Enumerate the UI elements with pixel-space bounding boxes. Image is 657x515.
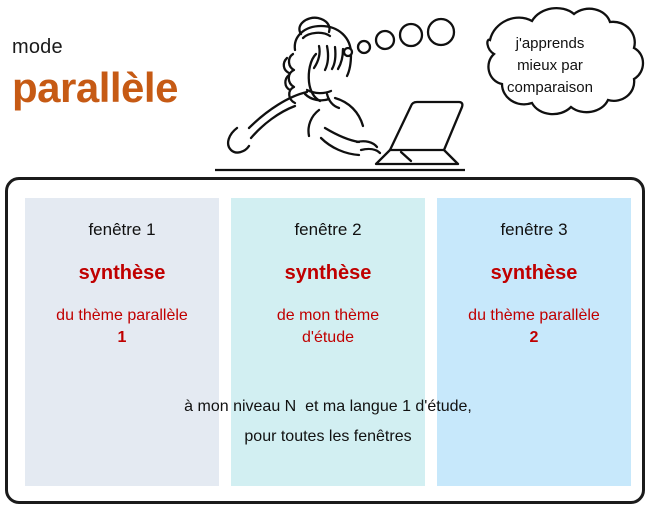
window-column-3-header: fenêtre 3	[437, 220, 631, 240]
thought-bubble-text: j'apprends mieux par comparaison	[470, 33, 630, 98]
window-column-3-kind: synthèse	[437, 262, 631, 285]
thought-bubble-line-2: mieux par	[470, 55, 630, 77]
window-column-2-desc-number: d'étude	[235, 327, 421, 349]
page-title: parallèle	[12, 65, 178, 111]
parallel-mode-panel: fenêtre 1 synthèse du thème parallèle 1 …	[5, 177, 645, 504]
window-column-3-desc-number: 2	[441, 327, 627, 349]
window-column-1-kind: synthèse	[25, 262, 219, 285]
window-column-3-desc-text: du thème parallèle	[441, 305, 627, 327]
window-columns: fenêtre 1 synthèse du thème parallèle 1 …	[25, 198, 631, 486]
window-column-3-description: du thème parallèle 2	[437, 305, 631, 348]
window-column-2-kind: synthèse	[231, 262, 425, 285]
window-column-1[interactable]: fenêtre 1 synthèse du thème parallèle 1	[25, 198, 219, 486]
window-column-2-desc-text: de mon thème	[235, 305, 421, 327]
thought-bubble-line-3: comparaison	[470, 77, 630, 99]
thought-bubble-line-1: j'apprends	[470, 33, 630, 55]
thought-trail-dot-3	[376, 31, 394, 49]
thought-trail-dot-1	[344, 48, 352, 56]
window-column-2-header: fenêtre 2	[231, 220, 425, 240]
window-column-1-desc-number: 1	[29, 327, 215, 349]
window-column-1-desc-text: du thème parallèle	[29, 305, 215, 327]
thought-trail-dot-4	[400, 24, 422, 46]
window-column-2[interactable]: fenêtre 2 synthèse de mon thème d'étude	[231, 198, 425, 486]
mode-label: mode	[12, 36, 63, 59]
window-column-3[interactable]: fenêtre 3 synthèse du thème parallèle 2	[437, 198, 631, 486]
thought-trail-dot-2	[358, 41, 370, 53]
window-column-1-header: fenêtre 1	[25, 220, 219, 240]
window-column-2-description: de mon thème d'étude	[231, 305, 425, 348]
header-area: mode parallèle	[0, 0, 657, 177]
window-column-1-description: du thème parallèle 1	[25, 305, 219, 348]
thought-trail-dot-5	[428, 19, 454, 45]
